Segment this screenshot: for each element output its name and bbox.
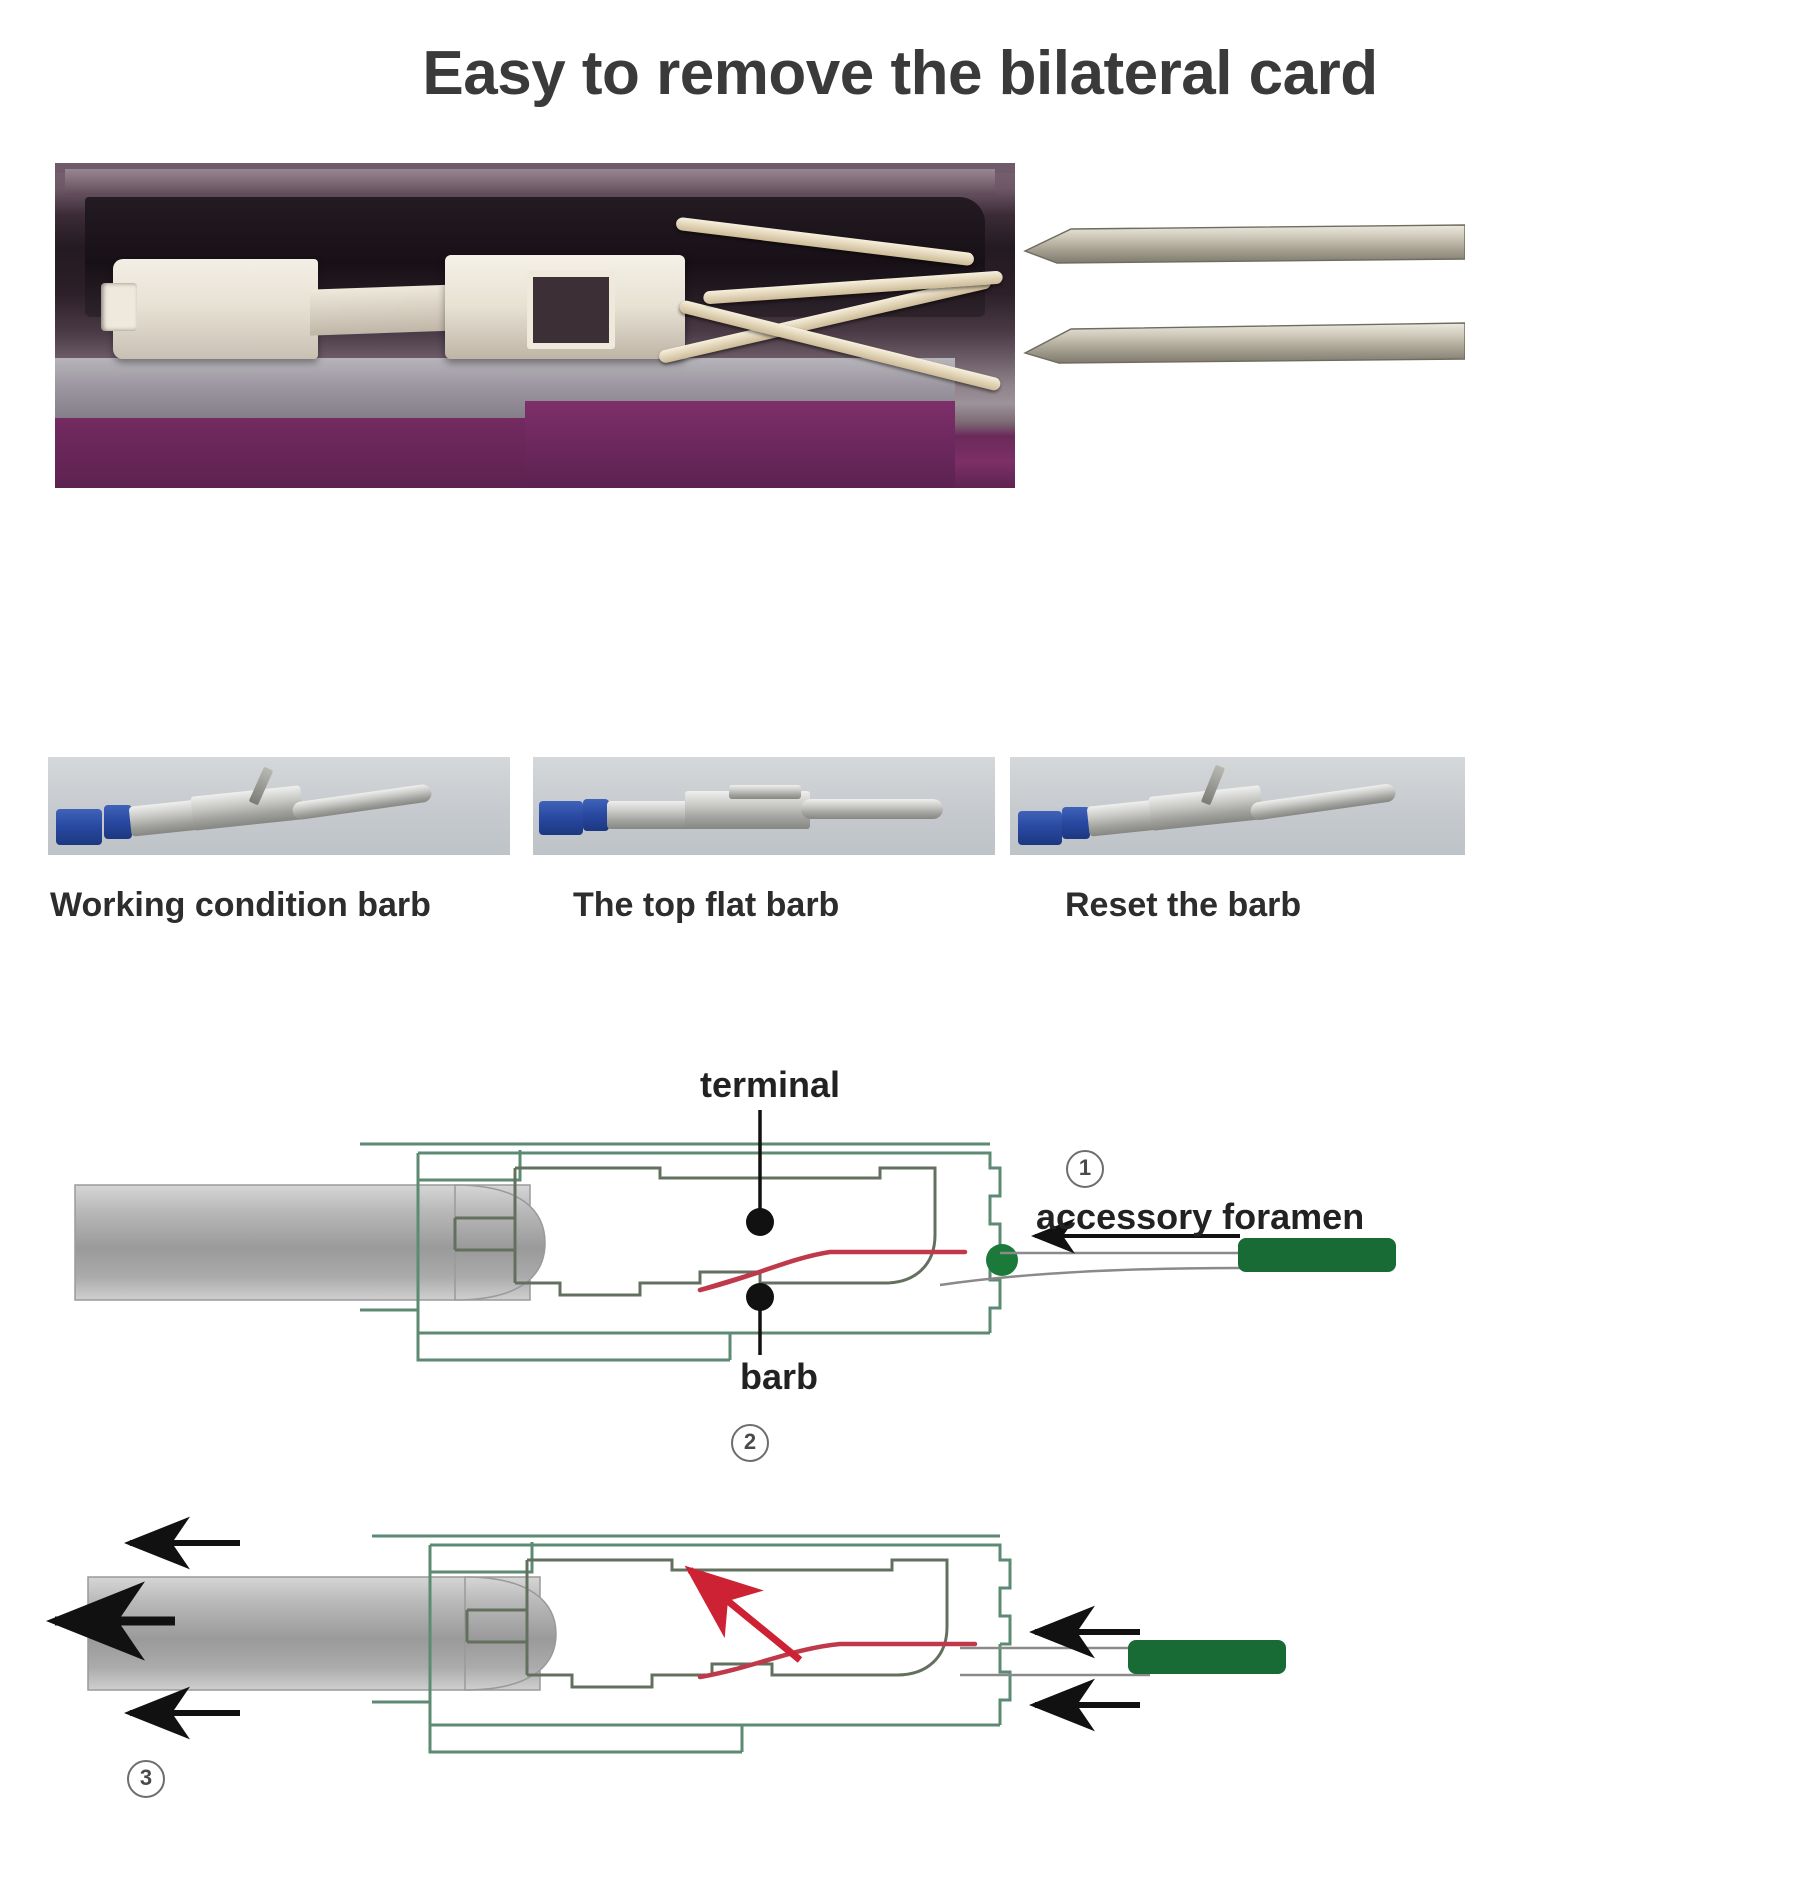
extraction-tool-handle bbox=[1238, 1238, 1396, 1272]
wire-cable-pulled bbox=[88, 1577, 556, 1690]
step-number-3: 3 bbox=[127, 1760, 165, 1798]
wire-cable bbox=[75, 1185, 545, 1300]
barb-release-arrow bbox=[690, 1570, 800, 1660]
extraction-tool-prongs-3 bbox=[960, 1648, 1150, 1675]
cross-section-diagrams bbox=[0, 0, 1800, 1894]
barb-callout bbox=[746, 1283, 774, 1355]
step-number-1: 1 bbox=[1066, 1150, 1104, 1188]
label-terminal: terminal bbox=[700, 1064, 840, 1106]
step-number-2: 2 bbox=[731, 1424, 769, 1462]
terminal-callout bbox=[746, 1110, 774, 1236]
label-barb: barb bbox=[740, 1356, 818, 1398]
terminal-extraction-diagram bbox=[55, 1536, 1286, 1752]
label-accessory-foramen: accessory foramen bbox=[1036, 1196, 1364, 1238]
extraction-tool-prongs bbox=[940, 1253, 1240, 1285]
extraction-tool-handle-3 bbox=[1128, 1640, 1286, 1674]
accessory-foramen-dot bbox=[986, 1244, 1018, 1276]
